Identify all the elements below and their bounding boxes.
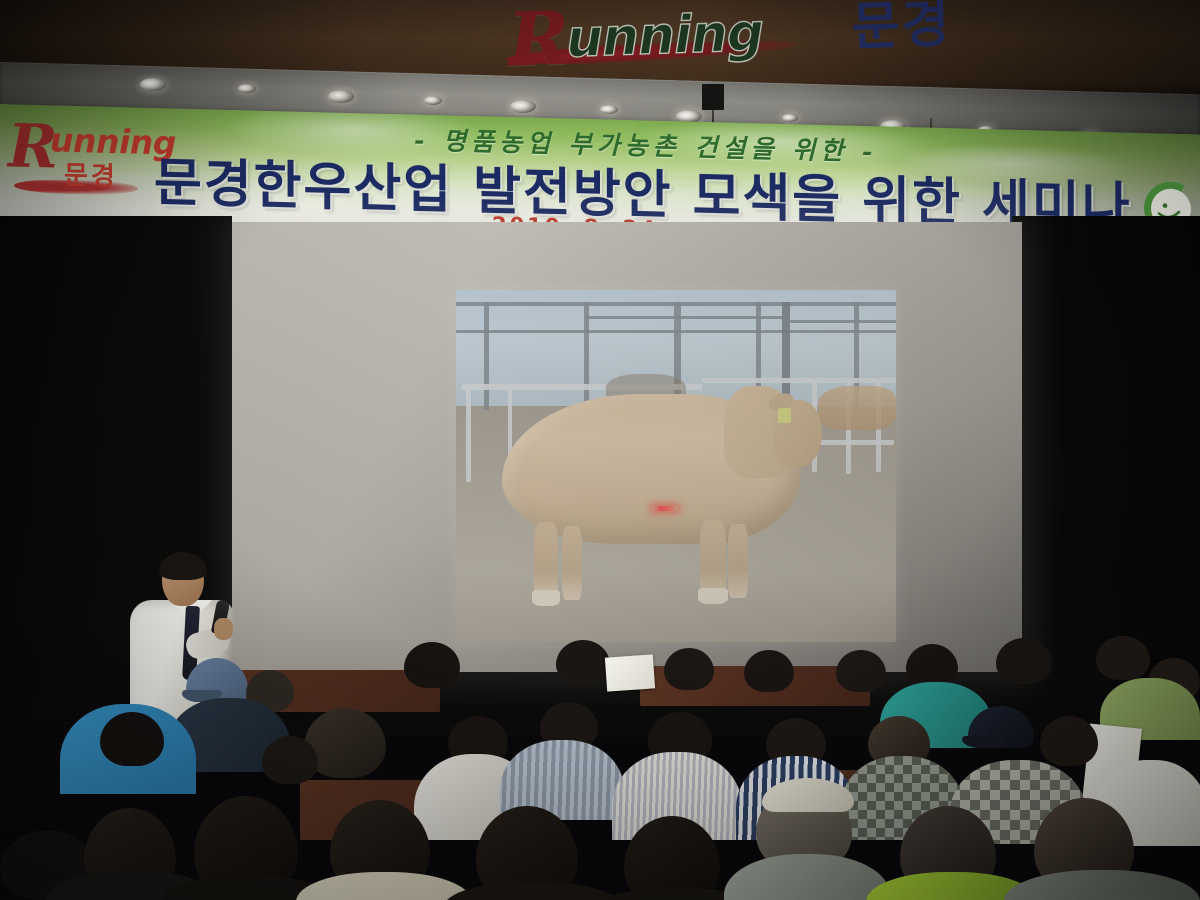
cow-hoof xyxy=(532,590,560,606)
audience-head xyxy=(262,736,318,784)
handout-paper xyxy=(605,654,655,691)
downlight-icon xyxy=(140,78,166,91)
presenter-hair xyxy=(159,552,207,580)
downlight-icon xyxy=(782,114,798,122)
seated-audience xyxy=(0,620,1200,900)
downlight-icon xyxy=(238,84,256,93)
downlight-icon xyxy=(328,90,354,103)
ceiling-speaker-box xyxy=(702,84,724,110)
banner-logo-korean: 문경 xyxy=(64,155,118,193)
wall-logo-word: unning xyxy=(565,7,764,66)
audience-head xyxy=(1096,636,1150,680)
wall-logo-korean: 문경 xyxy=(851,0,952,54)
audience-head xyxy=(744,650,794,692)
audience-head xyxy=(404,642,460,688)
cow-ear-tag xyxy=(778,408,791,423)
cow-leg xyxy=(534,522,558,600)
audience-head xyxy=(664,648,714,690)
audience-shoulders xyxy=(1004,870,1200,900)
downlight-icon xyxy=(510,100,536,113)
audience-head xyxy=(100,712,164,766)
cow-hoof xyxy=(698,588,728,604)
audience-shoulders xyxy=(444,882,622,900)
audience-head xyxy=(836,650,886,692)
banner-logo: R unning 문경 xyxy=(8,116,148,206)
projected-slide xyxy=(456,290,896,642)
wall-logo-r: R xyxy=(507,2,571,78)
audience-head xyxy=(996,638,1052,684)
audience-shoulders xyxy=(296,872,472,900)
audience-shoulders xyxy=(724,854,890,900)
barn-beam xyxy=(786,320,896,323)
seminar-photo: R unning 문경 R unning 문경 - 명품농업 부가농촌 건설을 … xyxy=(0,0,1200,900)
barn-rail xyxy=(466,386,471,482)
downlight-icon xyxy=(600,105,618,114)
barn-rail xyxy=(702,378,896,383)
projection-screen xyxy=(232,222,1022,672)
hall-wall-right xyxy=(1012,216,1200,686)
audience-head xyxy=(1040,716,1098,766)
audience-head xyxy=(556,640,610,684)
laser-pointer-dot xyxy=(652,506,678,511)
background-cow xyxy=(818,386,896,430)
downlight-icon xyxy=(424,96,442,105)
cow-leg xyxy=(728,524,748,598)
barn-post xyxy=(484,302,489,410)
barn-beam xyxy=(586,316,786,319)
cow-leg xyxy=(562,526,582,600)
